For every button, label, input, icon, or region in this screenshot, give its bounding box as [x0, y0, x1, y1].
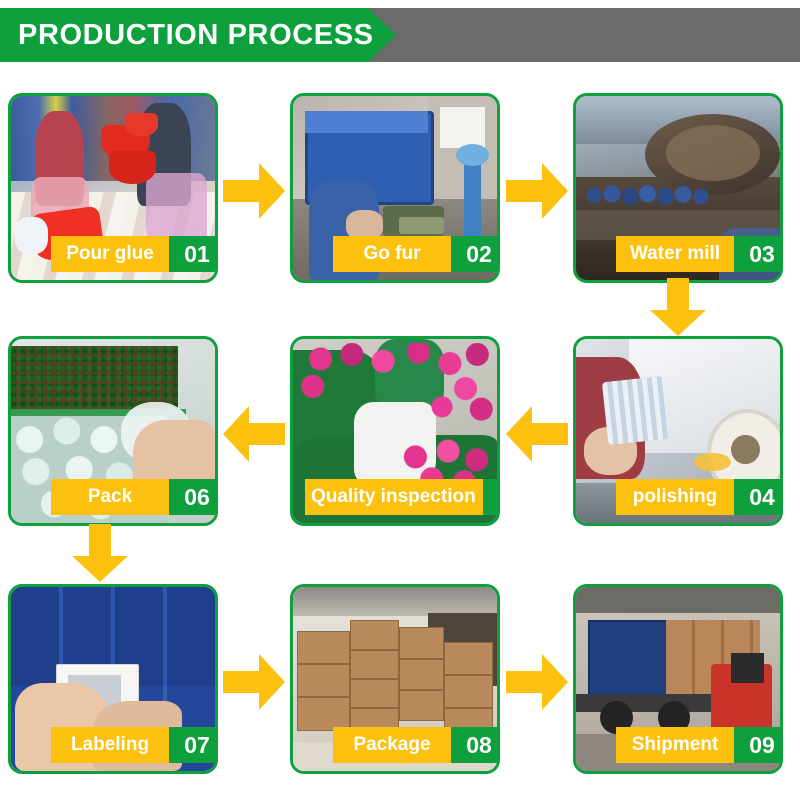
page-title: PRODUCTION PROCESS	[18, 8, 374, 62]
arrow-03-to-04	[650, 278, 706, 336]
step-number-03: 03	[734, 236, 783, 272]
page-header: PRODUCTION PROCESS	[0, 8, 800, 62]
step-label-text-09: Shipment	[616, 727, 734, 763]
step-number-07: 07	[169, 727, 218, 763]
step-label-text-03: Water mill	[616, 236, 734, 272]
arrow-06-to-07	[72, 524, 128, 582]
step-card-09[interactable]: Shipment 09	[573, 584, 783, 774]
step-card-04[interactable]: polishing 04	[573, 336, 783, 526]
step-label-text-05: Quality inspection	[305, 479, 483, 515]
step-label-04: polishing 04	[616, 479, 783, 515]
step-label-02: Go fur 02	[333, 236, 500, 272]
step-number-06: 06	[169, 479, 218, 515]
step-number-09: 09	[734, 727, 783, 763]
step-number-05: 05	[483, 479, 500, 515]
step-label-text-07: Labeling	[51, 727, 169, 763]
arrow-08-to-09	[506, 654, 568, 710]
step-card-06[interactable]: Pack 06	[8, 336, 218, 526]
step-label-text-02: Go fur	[333, 236, 451, 272]
step-card-02[interactable]: Go fur 02	[290, 93, 500, 283]
step-card-01[interactable]: Pour glue 01	[8, 93, 218, 283]
step-label-01: Pour glue 01	[51, 236, 218, 272]
step-card-05[interactable]: Quality inspection 05	[290, 336, 500, 526]
arrow-01-to-02	[223, 163, 285, 219]
step-label-03: Water mill 03	[616, 236, 783, 272]
step-card-03[interactable]: Water mill 03	[573, 93, 783, 283]
step-label-05: Quality inspection 05	[305, 479, 500, 515]
step-number-02: 02	[451, 236, 500, 272]
step-label-08: Package 08	[333, 727, 500, 763]
step-number-08: 08	[451, 727, 500, 763]
step-label-text-06: Pack	[51, 479, 169, 515]
step-card-08[interactable]: Package 08	[290, 584, 500, 774]
step-label-06: Pack 06	[51, 479, 218, 515]
step-number-04: 04	[734, 479, 783, 515]
arrow-02-to-03	[506, 163, 568, 219]
arrow-07-to-08	[223, 654, 285, 710]
step-label-07: Labeling 07	[51, 727, 218, 763]
step-label-text-04: polishing	[616, 479, 734, 515]
arrow-04-to-05	[506, 406, 568, 462]
step-card-07[interactable]: Labeling 07	[8, 584, 218, 774]
step-label-text-08: Package	[333, 727, 451, 763]
step-label-text-01: Pour glue	[51, 236, 169, 272]
arrow-05-to-06	[223, 406, 285, 462]
step-label-09: Shipment 09	[616, 727, 783, 763]
step-number-01: 01	[169, 236, 218, 272]
